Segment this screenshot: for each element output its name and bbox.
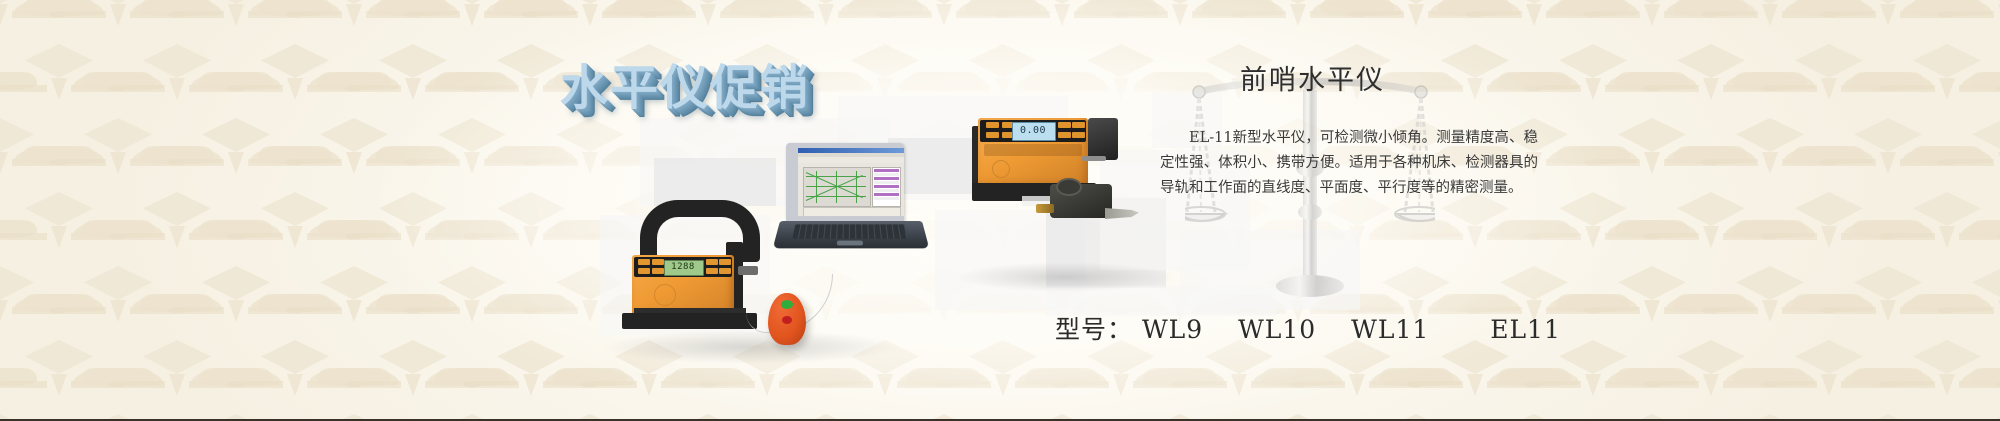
laptop-screen: [798, 148, 904, 216]
level-key: [719, 259, 731, 265]
level-b-key: [1058, 122, 1071, 128]
level-b-accessory-probe-tip: [1105, 208, 1139, 219]
level-key: [638, 259, 650, 265]
level-b-groove: [984, 144, 1082, 156]
level-emblem: [654, 284, 676, 306]
laptop-keyboard: [792, 224, 907, 238]
software-status-panel: [803, 207, 901, 216]
level-b-key: [1072, 132, 1085, 138]
level-base: [622, 313, 757, 329]
level-b-key: [1058, 132, 1071, 138]
promo-banner: 水平仪促销 1288: [0, 0, 2000, 421]
laptop-touchpad: [837, 241, 863, 246]
remote-control: [768, 293, 806, 345]
level-b-accessory-brass-fitting: [1036, 204, 1054, 213]
level-b-black-block: [1088, 118, 1118, 160]
level-key: [706, 268, 718, 274]
level-key: [719, 268, 731, 274]
level-b-rod: [1082, 156, 1106, 161]
level-lcd-value: 1288: [666, 261, 700, 273]
level-b-key: [1072, 122, 1085, 128]
page-title: 水平仪促销: [560, 48, 810, 118]
level-key: [638, 268, 650, 274]
software-toolbar: [798, 157, 904, 163]
level-key: [652, 268, 664, 274]
laptop-base: [773, 221, 930, 248]
level-b-key: [986, 122, 999, 128]
level-b-key: [986, 132, 999, 138]
level-b-accessory-dial: [1056, 178, 1082, 196]
level-b-lcd-value: 0.00: [1013, 124, 1053, 137]
software-data-table: [872, 167, 901, 207]
software-measurement-plot: [803, 167, 871, 207]
model-number-line: 型号： WL9 WL10 WL11 EL11: [1055, 310, 1561, 346]
laptop-photo: [780, 143, 922, 253]
remote-red-button: [782, 316, 792, 324]
remote-green-button: [781, 300, 793, 309]
level-b-emblem: [992, 160, 1010, 178]
laptop-lid: [786, 143, 904, 225]
product-heading: 前哨水平仪: [1240, 58, 1385, 97]
product-photo-level-b: 0.00: [950, 100, 1150, 275]
level-key: [706, 259, 718, 265]
level-key: [652, 259, 664, 265]
product-description: EL-11新型水平仪，可检测微小倾角。测量精度高、稳定性强、体积小、携带方便。适…: [1160, 126, 1538, 201]
